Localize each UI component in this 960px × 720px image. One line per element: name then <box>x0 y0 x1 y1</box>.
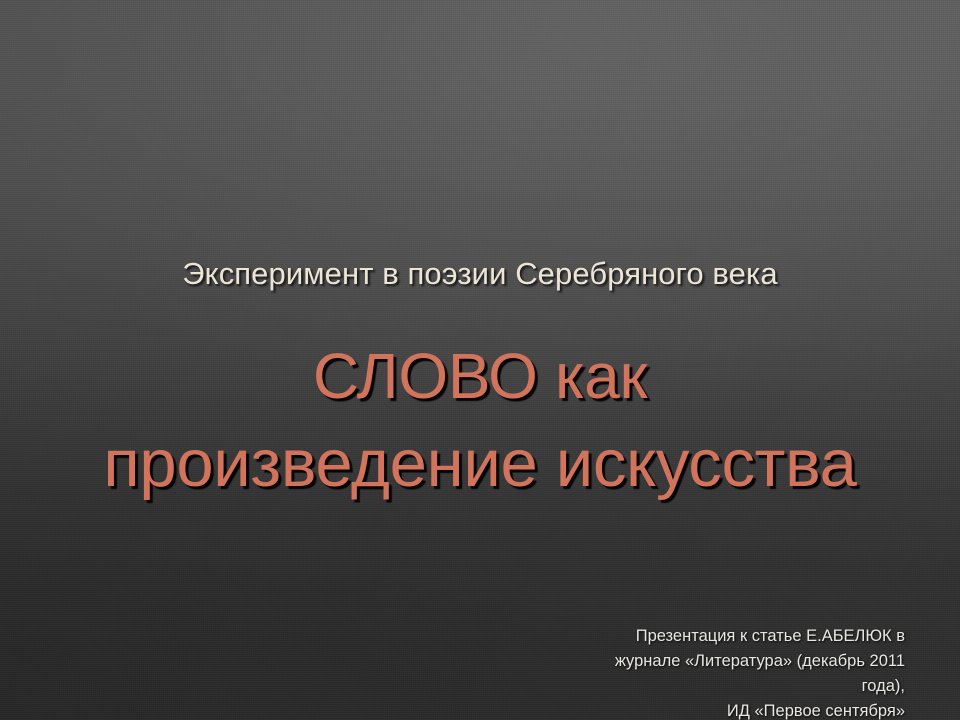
slide-attribution: Презентация к статье Е.АБЕЛЮК в журнале … <box>545 624 905 720</box>
title-line-2: произведение искусства <box>0 420 960 508</box>
attribution-line-1: Презентация к статье Е.АБЕЛЮК в <box>545 624 905 649</box>
slide-title: СЛОВО как произведение искусства <box>0 332 960 508</box>
slide-content: Эксперимент в поэзии Серебряного века СЛ… <box>0 0 960 720</box>
presentation-slide: Эксперимент в поэзии Серебряного века СЛ… <box>0 0 960 720</box>
attribution-line-2: журнале «Литература» (декабрь 2011 <box>545 649 905 674</box>
attribution-line-4: ИД «Первое сентября» <box>545 699 905 720</box>
attribution-line-3: года), <box>545 674 905 699</box>
title-line-1: СЛОВО как <box>0 332 960 420</box>
slide-subtitle: Эксперимент в поэзии Серебряного века <box>0 255 960 293</box>
